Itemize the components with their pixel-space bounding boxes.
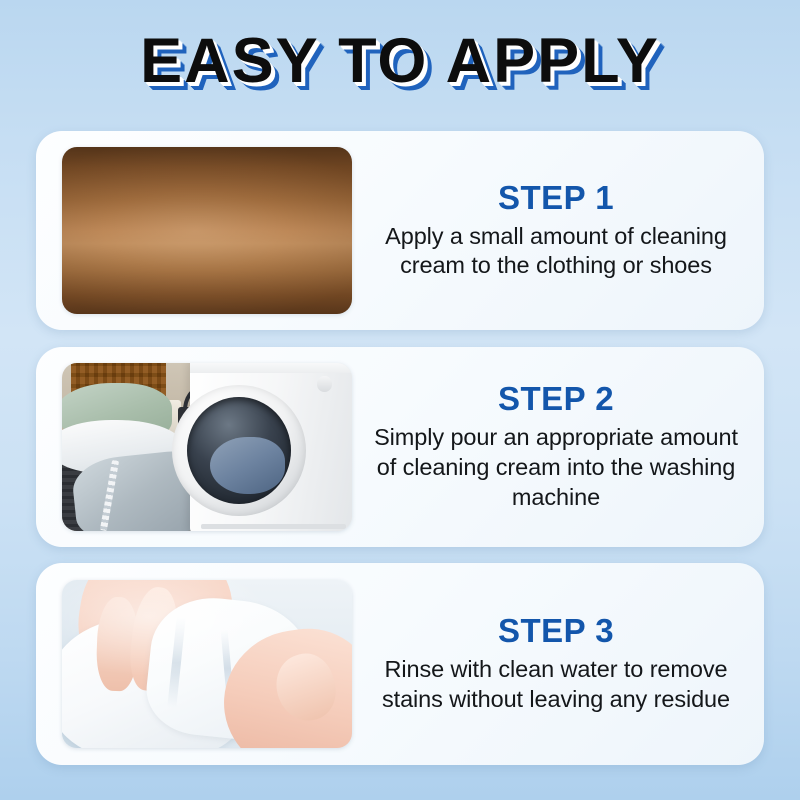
page-title: EASY TO APPLY: [140, 30, 660, 93]
step-3-label: STEP 3: [366, 613, 746, 650]
cleaning-cream-photo: [62, 147, 352, 314]
step-3-copy: STEP 3 Rinse with clean water to remove …: [352, 613, 764, 715]
step-1-label: STEP 1: [366, 180, 746, 217]
step-1-copy: STEP 1 Apply a small amount of cleaning …: [352, 180, 764, 282]
cleaning-cream-image: [62, 147, 352, 314]
washer-knob: [317, 376, 332, 391]
hands-rinsing-photo: [62, 580, 352, 748]
hands-rinsing-image: [62, 580, 352, 748]
washer-top-panel: [190, 363, 352, 373]
washing-machine-photo: [62, 363, 352, 531]
highlight-overlay: [62, 580, 352, 748]
step-card-3: STEP 3 Rinse with clean water to remove …: [36, 563, 764, 765]
step-1-description: Apply a small amount of cleaning cream t…: [366, 222, 746, 282]
step-2-copy: STEP 2 Simply pour an appropriate amount…: [352, 381, 764, 512]
washing-machine-image: [62, 363, 352, 531]
step-3-description: Rinse with clean water to remove stains …: [366, 655, 746, 715]
step-2-label: STEP 2: [366, 381, 746, 418]
clothes-in-drum: [210, 437, 285, 494]
washer-base: [201, 524, 346, 529]
step-2-description: Simply pour an appropriate amount of cle…: [366, 423, 746, 513]
step-card-1: STEP 1 Apply a small amount of cleaning …: [36, 131, 764, 330]
step-card-2: STEP 2 Simply pour an appropriate amount…: [36, 347, 764, 547]
header: EASY TO APPLY: [0, 18, 800, 104]
instruction-infographic: EASY TO APPLY STEP 1 Apply a small amoun…: [0, 0, 800, 800]
